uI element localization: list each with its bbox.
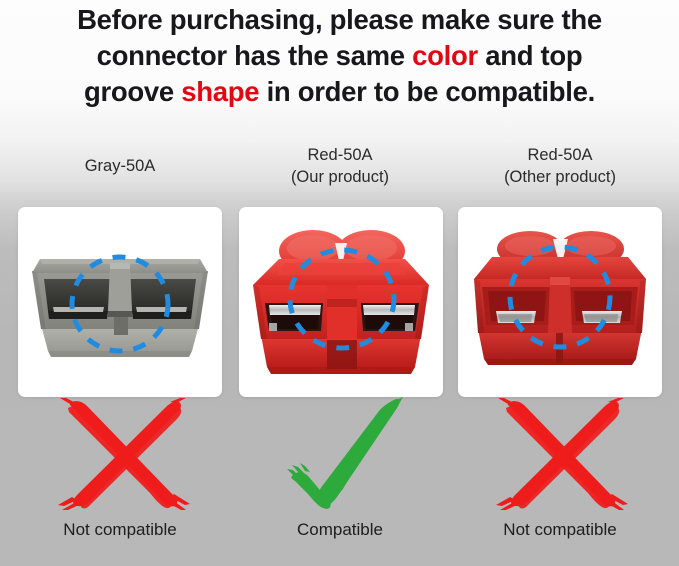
red-connector-our-illustration [239, 207, 443, 397]
caption-not-compatible-2: Not compatible [460, 520, 660, 540]
headline-line-3-prefix: groove [84, 76, 181, 107]
page-title: Before purchasing, please make sure the … [0, 0, 679, 110]
headline-line-2: connector has the same color and top [0, 38, 679, 74]
red-connector-other-illustration [458, 207, 662, 397]
gray-connector-illustration [18, 207, 222, 397]
red-cross-icon [52, 398, 194, 510]
column-title-red-50a-other: Red-50A (Other product) [460, 144, 660, 188]
headline-line-3: groove shape in order to be compatible. [0, 74, 679, 110]
product-card-red-50a-other [458, 207, 662, 397]
red-cross-icon [490, 398, 632, 510]
headline-line-2-suffix: and top [478, 40, 583, 71]
product-card-red-50a-our [239, 207, 443, 397]
caption-not-compatible-1: Not compatible [20, 520, 220, 540]
connector-photo-gray [18, 207, 222, 397]
infographic-root: Before purchasing, please make sure the … [0, 0, 679, 566]
headline-highlight-shape: shape [181, 76, 259, 107]
verdict-mark-not-compatible-2 [490, 398, 632, 515]
column-title-gray-50a: Gray-50A [20, 155, 220, 177]
verdict-mark-not-compatible-1 [52, 398, 194, 515]
caption-compatible: Compatible [240, 520, 440, 540]
headline-line-1-text: Before purchasing, please make sure the [77, 4, 602, 35]
verdict-mark-compatible [287, 397, 403, 516]
headline-line-2-prefix: connector has the same [97, 40, 413, 71]
connector-photo-red-other [458, 207, 662, 397]
column-title-red-50a-our: Red-50A (Our product) [240, 144, 440, 188]
green-check-icon [287, 397, 403, 511]
headline-line-1: Before purchasing, please make sure the [0, 2, 679, 38]
product-card-gray-50a [18, 207, 222, 397]
connector-photo-red-our [239, 207, 443, 397]
headline-line-3-suffix: in order to be compatible. [259, 76, 595, 107]
headline-highlight-color: color [412, 40, 478, 71]
